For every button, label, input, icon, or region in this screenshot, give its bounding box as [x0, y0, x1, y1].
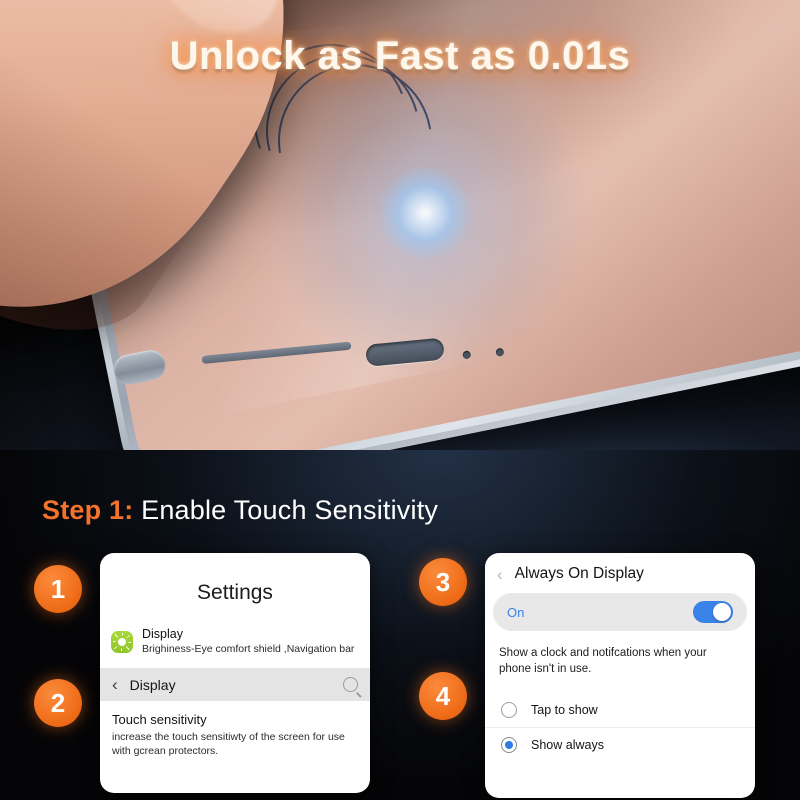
aod-header: ‹ Always On Display: [485, 553, 755, 593]
radio-unselected-icon[interactable]: [501, 702, 517, 718]
touch-sensitivity-item[interactable]: Touch sensitivity increase the touch sen…: [100, 701, 370, 758]
settings-item-label: Display: [142, 627, 354, 643]
aod-options-list: Tap to show Show always: [485, 693, 755, 762]
step-badge-2: 2: [34, 679, 82, 727]
toggle-state-label: On: [507, 605, 524, 620]
display-screen-header: ‹ Display: [100, 668, 370, 701]
aod-description: Show a clock and notifcations when your …: [485, 631, 755, 677]
settings-item-text: Display Brighiness-Eye comfort shield ,N…: [142, 627, 354, 656]
hero-section: Unlock as Fast as 0.01s: [0, 0, 800, 470]
aod-toggle-switch[interactable]: [693, 601, 733, 623]
option-label: Show always: [531, 738, 604, 752]
settings-title: Settings: [100, 553, 370, 627]
step-title: Step 1: Enable Touch Sensitivity: [42, 495, 438, 526]
toggle-knob: [713, 603, 731, 621]
search-icon[interactable]: [343, 677, 358, 692]
option-tap-to-show[interactable]: Tap to show: [485, 693, 755, 727]
hero-headline: Unlock as Fast as 0.01s: [0, 34, 800, 79]
left-badges: 1 2: [30, 553, 100, 800]
chevron-left-icon[interactable]: ‹: [112, 676, 118, 693]
brightness-icon: [111, 631, 133, 653]
step-title-text: Enable Touch Sensitivity: [141, 495, 438, 525]
aod-header-title: Always On Display: [515, 565, 644, 583]
chevron-left-icon[interactable]: ‹: [497, 566, 503, 583]
settings-item-subtitle: Brighiness-Eye comfort shield ,Navigatio…: [142, 643, 354, 657]
screenshot-cards: 1 2 Settings Display Brighiness-Eye comf…: [0, 553, 800, 800]
right-badges: 3 4: [415, 553, 485, 800]
option-label: Tap to show: [531, 703, 598, 717]
settings-screenshot-card: Settings Display Brighiness-Eye comfort …: [100, 553, 370, 793]
product-marketing-image: Unlock as Fast as 0.01s Step 1: Enable T…: [0, 0, 800, 800]
left-column: 1 2 Settings Display Brighiness-Eye comf…: [30, 553, 370, 800]
settings-item-display[interactable]: Display Brighiness-Eye comfort shield ,N…: [100, 627, 370, 668]
touch-sensitivity-title: Touch sensitivity: [112, 712, 358, 727]
steps-section: Step 1: Enable Touch Sensitivity 1 2 Set…: [0, 450, 800, 800]
touch-sensitivity-description: increase the touch sensitiwty of the scr…: [112, 730, 358, 758]
fingerprint-scanner-icon: [300, 88, 550, 338]
power-button: [111, 348, 168, 388]
step-badge-3: 3: [419, 558, 467, 606]
option-show-always[interactable]: Show always: [485, 727, 755, 762]
radio-selected-icon[interactable]: [501, 737, 517, 753]
display-header-title: Display: [130, 677, 176, 693]
step-number-label: Step 1:: [42, 495, 133, 525]
always-on-display-screenshot-card: ‹ Always On Display On Show a clock and …: [485, 553, 755, 798]
step-badge-1: 1: [34, 565, 82, 613]
aod-toggle-row[interactable]: On: [493, 593, 747, 631]
step-badge-4: 4: [419, 672, 467, 720]
right-column: 3 4 ‹ Always On Display On Show a cloc: [415, 553, 755, 800]
